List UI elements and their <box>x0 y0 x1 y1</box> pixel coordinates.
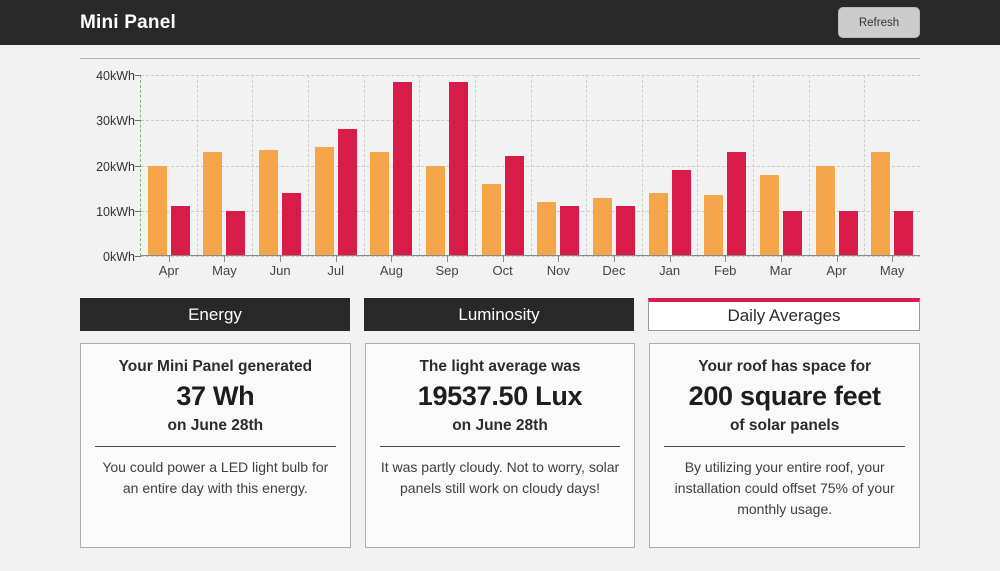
chart-bar-usage <box>672 170 691 256</box>
chart-x-tick <box>224 256 225 262</box>
refresh-button[interactable]: Refresh <box>838 7 920 38</box>
chart-bar-generation <box>315 147 334 256</box>
card-subtitle: on June 28th <box>380 417 621 435</box>
chart-x-tick-label: Feb <box>697 263 753 278</box>
card-primary-value: 19537.50 Lux <box>380 381 621 412</box>
chart-x-tick <box>336 256 337 262</box>
card-divider <box>95 446 336 447</box>
chart-bar-generation <box>426 166 445 257</box>
summary-card: Your roof has space for200 square feetof… <box>649 343 920 548</box>
chart-x-tick-label: Nov <box>530 263 586 278</box>
chart-x-tick-label: Jul <box>308 263 364 278</box>
chart-bar-usage <box>393 82 412 256</box>
chart-x-tick <box>558 256 559 262</box>
chart-x-tick <box>781 256 782 262</box>
chart-x-tick-label: May <box>864 263 920 278</box>
app-header: Mini Panel Refresh <box>0 0 1000 45</box>
chart-bar-generation <box>816 166 835 257</box>
chart-month-group: Dec <box>586 75 642 256</box>
chart-bar-usage <box>783 211 802 256</box>
chart-bar-usage <box>560 206 579 256</box>
chart-y-tick-label: 40kWh <box>96 69 135 83</box>
chart-bar-generation <box>760 175 779 256</box>
chart-month-group: Apr <box>141 75 197 256</box>
chart-x-tick-label: Dec <box>586 263 642 278</box>
chart-month-group: Sep <box>419 75 475 256</box>
chart-bar-generation <box>593 198 612 256</box>
chart-month-group: Oct <box>475 75 531 256</box>
chart-x-tick <box>614 256 615 262</box>
chart-bar-usage <box>226 211 245 256</box>
chart-x-tick <box>447 256 448 262</box>
chart-y-tick-label: 10kWh <box>96 205 135 219</box>
card-subtitle: on June 28th <box>95 417 336 435</box>
chart-y-tick-label: 30kWh <box>96 114 135 128</box>
chart-month-group: May <box>197 75 253 256</box>
chart-bar-usage <box>505 156 524 256</box>
card-primary-value: 37 Wh <box>95 381 336 412</box>
summary-card: Your Mini Panel generated37 Whon June 28… <box>80 343 351 548</box>
chart-month-group: Feb <box>697 75 753 256</box>
chart-bar-usage <box>727 152 746 256</box>
chart-bar-usage <box>449 82 468 256</box>
chart-x-tick-label: May <box>197 263 253 278</box>
chart-x-tick-label: Apr <box>809 263 865 278</box>
card-primary-value: 200 square feet <box>664 381 905 412</box>
chart-x-tick-label: Aug <box>364 263 420 278</box>
chart-x-tick-label: Mar <box>753 263 809 278</box>
card-lead-text: Your Mini Panel generated <box>95 357 336 376</box>
chart-x-tick <box>503 256 504 262</box>
tab-luminosity[interactable]: Luminosity <box>364 298 634 331</box>
header-divider <box>80 58 920 59</box>
chart-month-group: Jul <box>308 75 364 256</box>
chart-x-tick <box>837 256 838 262</box>
chart-bar-generation <box>649 193 668 256</box>
chart-bar-groups: AprMayJunJulAugSepOctNovDecJanFebMarAprM… <box>141 75 920 256</box>
chart-bar-generation <box>370 152 389 256</box>
chart-x-tick <box>725 256 726 262</box>
chart-y-tick-label: 20kWh <box>96 160 135 174</box>
chart-x-tick <box>892 256 893 262</box>
chart-bar-generation <box>871 152 890 256</box>
chart-gridline: 0kWh <box>141 256 920 257</box>
chart-x-tick-label: Sep <box>419 263 475 278</box>
chart-x-tick <box>280 256 281 262</box>
chart-month-group: Apr <box>809 75 865 256</box>
energy-bar-chart: 0kWh10kWh20kWh30kWh40kWh AprMayJunJulAug… <box>80 67 920 282</box>
chart-x-tick-label: Jan <box>642 263 698 278</box>
chart-bar-usage <box>616 206 635 256</box>
chart-x-tick-label: Jun <box>252 263 308 278</box>
chart-y-tick <box>135 256 141 257</box>
chart-bar-usage <box>839 211 858 256</box>
chart-bar-generation <box>259 150 278 256</box>
summary-card: The light average was19537.50 Luxon June… <box>365 343 636 548</box>
card-divider <box>380 446 621 447</box>
chart-x-axis <box>141 255 920 256</box>
chart-month-group: Jan <box>642 75 698 256</box>
chart-x-tick <box>670 256 671 262</box>
chart-x-tick-label: Oct <box>475 263 531 278</box>
card-note-text: You could power a LED light bulb for an … <box>95 457 336 499</box>
summary-cards: Your Mini Panel generated37 Whon June 28… <box>80 343 920 548</box>
chart-month-group: Nov <box>530 75 586 256</box>
card-subtitle: of solar panels <box>664 417 905 435</box>
card-divider <box>664 446 905 447</box>
chart-bar-usage <box>282 193 301 256</box>
page-body: 0kWh10kWh20kWh30kWh40kWh AprMayJunJulAug… <box>0 58 1000 548</box>
tab-energy[interactable]: Energy <box>80 298 350 331</box>
card-lead-text: Your roof has space for <box>664 357 905 376</box>
chart-x-tick-label: Apr <box>141 263 197 278</box>
chart-month-group: Mar <box>753 75 809 256</box>
chart-bar-usage <box>894 211 913 256</box>
chart-bar-generation <box>203 152 222 256</box>
card-lead-text: The light average was <box>380 357 621 376</box>
chart-bar-usage <box>338 129 357 256</box>
chart-bar-usage <box>171 206 190 256</box>
chart-x-tick <box>169 256 170 262</box>
chart-bar-generation <box>482 184 501 256</box>
page-title: Mini Panel <box>80 12 176 34</box>
card-note-text: By utilizing your entire roof, your inst… <box>664 457 905 520</box>
chart-plot-area: 0kWh10kWh20kWh30kWh40kWh AprMayJunJulAug… <box>140 75 920 256</box>
chart-month-group: Aug <box>364 75 420 256</box>
chart-bar-generation <box>148 166 167 257</box>
chart-y-tick-label: 0kWh <box>103 250 135 264</box>
tab-bar: EnergyLuminosityDaily Averages <box>80 298 920 331</box>
chart-month-group: May <box>864 75 920 256</box>
tab-daily-averages[interactable]: Daily Averages <box>648 298 920 331</box>
chart-bar-generation <box>537 202 556 256</box>
chart-x-tick <box>391 256 392 262</box>
chart-bar-generation <box>704 195 723 256</box>
chart-month-group: Jun <box>252 75 308 256</box>
card-note-text: It was partly cloudy. Not to worry, sola… <box>380 457 621 499</box>
